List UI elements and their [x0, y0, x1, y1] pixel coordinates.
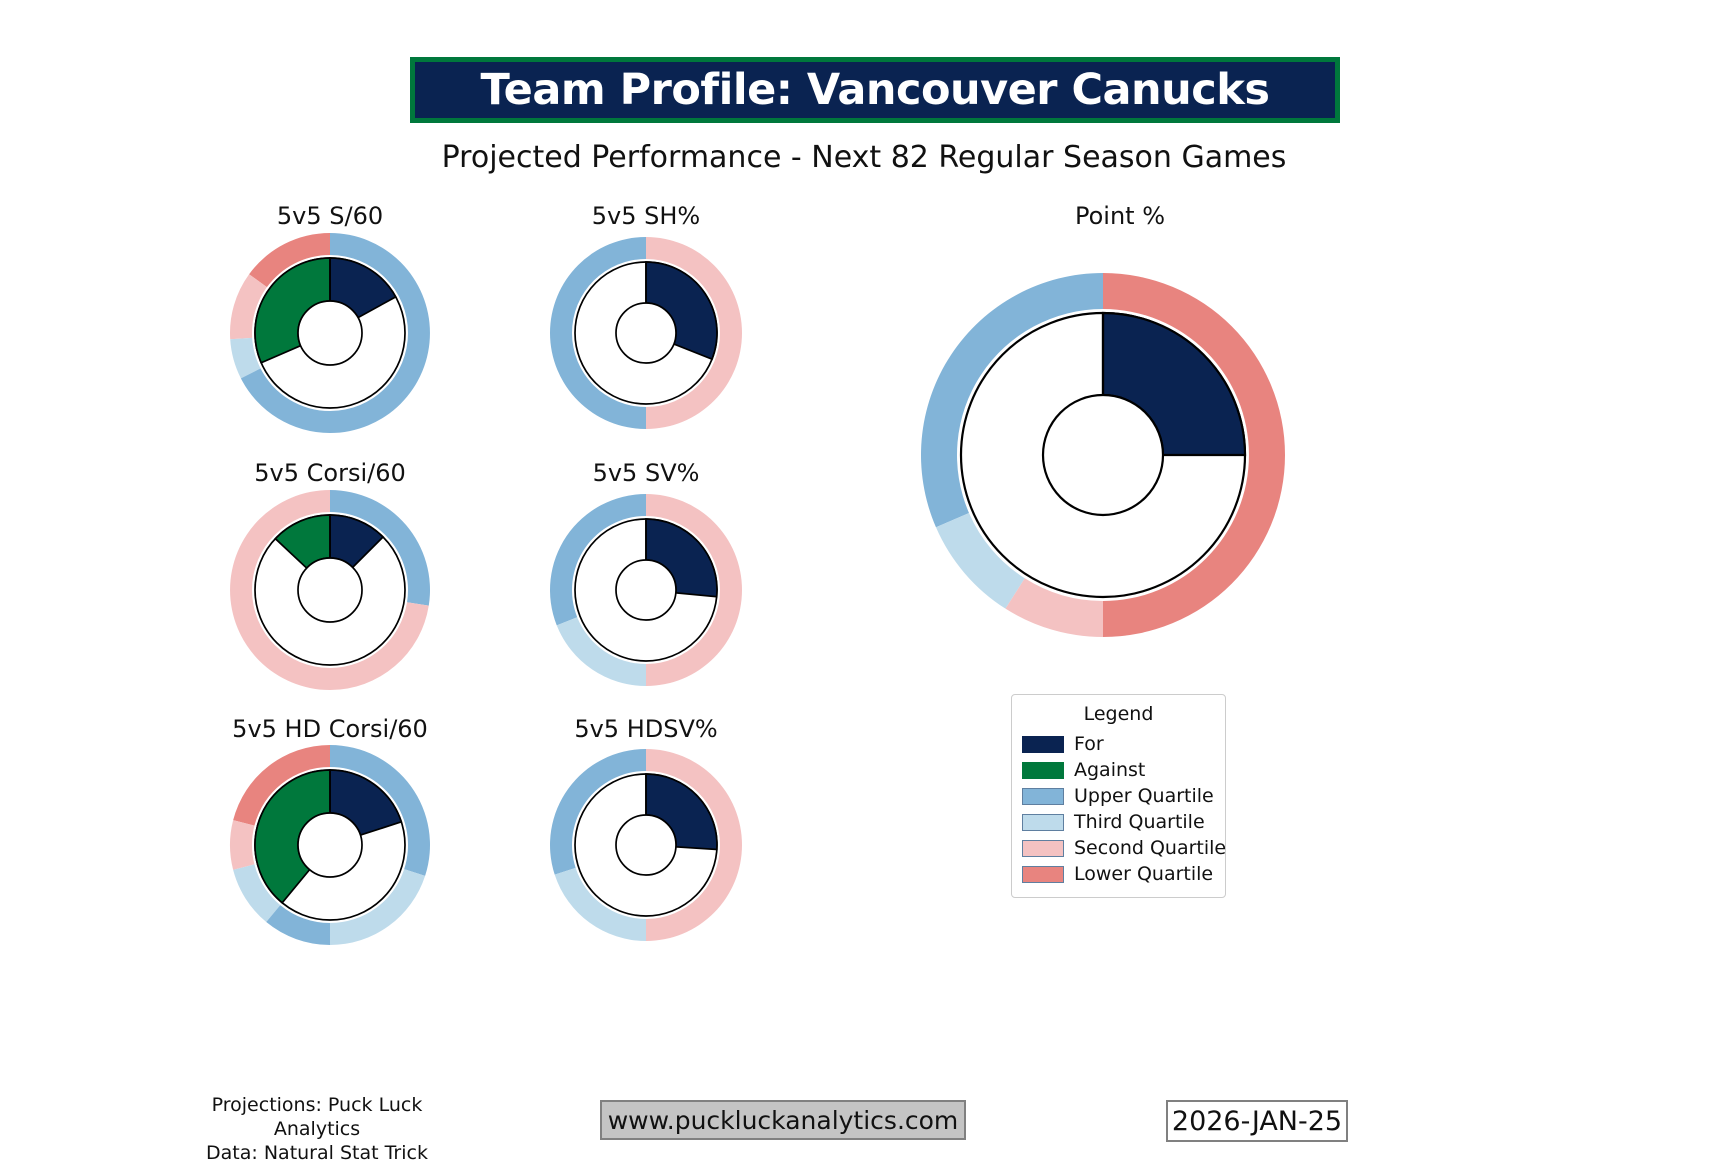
title-banner: Team Profile: Vancouver Canucks	[410, 57, 1340, 123]
legend-row-second-quartile: Second Quartile	[1022, 835, 1215, 861]
legend-swatch-icon	[1022, 788, 1064, 805]
gauge-5v5-hdsv	[536, 735, 756, 955]
gauge-5v5-corsi-60	[216, 476, 444, 704]
legend-label: For	[1074, 733, 1104, 755]
legend-label: Upper Quartile	[1074, 785, 1214, 807]
legend-row-third-quartile: Third Quartile	[1022, 809, 1215, 835]
legend-label: Third Quartile	[1074, 811, 1205, 833]
legend-row-against: Against	[1022, 757, 1215, 783]
legend-label: Lower Quartile	[1074, 863, 1213, 885]
page-title: Team Profile: Vancouver Canucks	[481, 65, 1270, 115]
website-url-box[interactable]: www.puckluckanalytics.com	[600, 1100, 966, 1140]
legend-label: Against	[1074, 759, 1145, 781]
attribution-data: Data: Natural Stat Trick	[172, 1142, 462, 1165]
legend-row-for: For	[1022, 731, 1215, 757]
page-subtitle: Projected Performance - Next 82 Regular …	[0, 140, 1728, 175]
attribution: Projections: Puck Luck Analytics Data: N…	[172, 1094, 462, 1165]
legend-row-upper-quartile: Upper Quartile	[1022, 783, 1215, 809]
legend: Legend ForAgainstUpper QuartileThird Qua…	[1011, 694, 1226, 898]
date-box: 2026-JAN-25	[1166, 1100, 1348, 1142]
attribution-projections: Projections: Puck Luck Analytics	[172, 1094, 462, 1142]
gauge-5v5-sv	[536, 480, 756, 700]
gauge-5v5-hd-corsi-60	[216, 731, 444, 959]
legend-label: Second Quartile	[1074, 837, 1226, 859]
gauge-5v5-sh	[536, 223, 756, 443]
legend-items: ForAgainstUpper QuartileThird QuartileSe…	[1022, 731, 1215, 887]
legend-swatch-icon	[1022, 814, 1064, 831]
legend-swatch-icon	[1022, 736, 1064, 753]
legend-row-lower-quartile: Lower Quartile	[1022, 861, 1215, 887]
gauge-5v5-s-60	[216, 219, 444, 447]
gauge-point	[907, 259, 1299, 651]
panel-title-point: Point %	[1075, 202, 1165, 230]
legend-swatch-icon	[1022, 762, 1064, 779]
legend-swatch-icon	[1022, 866, 1064, 883]
legend-swatch-icon	[1022, 840, 1064, 857]
legend-title: Legend	[1022, 703, 1215, 725]
